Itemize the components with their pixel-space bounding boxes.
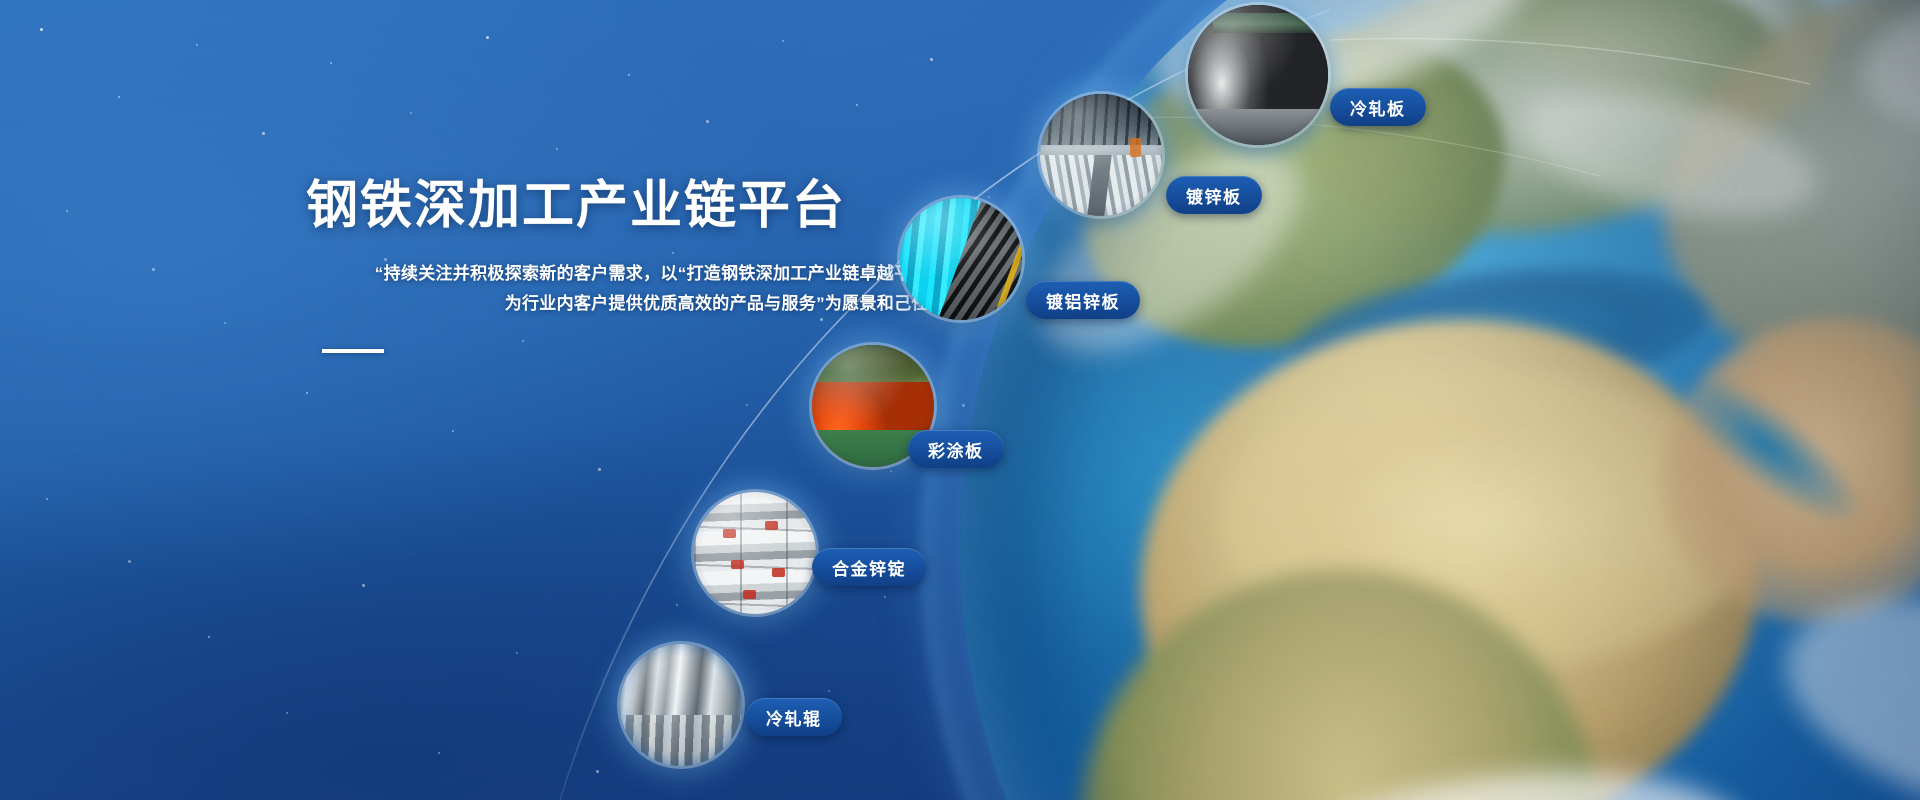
product-label-cold-rolled-plate[interactable]: 冷轧板 [1330,88,1426,126]
hero-subtitle-line-1: “持续关注并积极探索新的客户需求，以“打造钢铁深加工产业链卓越平台， [306,259,946,289]
page-title: 钢铁深加工产业链平台 [306,178,946,235]
connector-arc-line [0,0,1920,800]
cold-rolling-rolls-photo[interactable] [620,644,742,766]
hero-banner: 钢铁深加工产业链平台 “持续关注并积极探索新的客户需求，以“打造钢铁深加工产业链… [0,0,1920,800]
bubble-gloss-overlay [1188,5,1328,145]
product-label-cold-rolling-roll[interactable]: 冷轧辊 [746,698,842,736]
bubble-gloss-overlay [620,644,742,766]
hero-copy-block: 钢铁深加工产业链平台 “持续关注并积极探索新的客户需求，以“打造钢铁深加工产业链… [306,178,946,353]
zinc-alloy-ingots-photo[interactable] [694,492,816,614]
product-label-galvanized-plate[interactable]: 镀锌板 [1166,176,1262,214]
product-label-color-coated-plate[interactable]: 彩涂板 [908,430,1004,468]
galvanized-steel-warehouse-photo[interactable] [1040,94,1162,216]
product-label-zinc-alloy-ingot[interactable]: 合金锌锭 [812,548,926,586]
cold-rolled-steel-coils-photo[interactable] [1188,5,1328,145]
hero-subtitle-line-2: 为行业内客户提供优质高效的产品与服务”为愿景和己任。 [306,289,946,319]
bubble-gloss-overlay [694,492,816,614]
bubble-gloss-overlay [900,198,1022,320]
bubble-gloss-overlay [1040,94,1162,216]
hero-subtitle: “持续关注并积极探索新的客户需求，以“打造钢铁深加工产业链卓越平台， 为行业内客… [306,259,946,319]
product-label-aluzinc-plate[interactable]: 镀铝锌板 [1026,281,1140,319]
title-underline [322,349,384,353]
aluzinc-cyan-coil-photo[interactable] [900,198,1022,320]
